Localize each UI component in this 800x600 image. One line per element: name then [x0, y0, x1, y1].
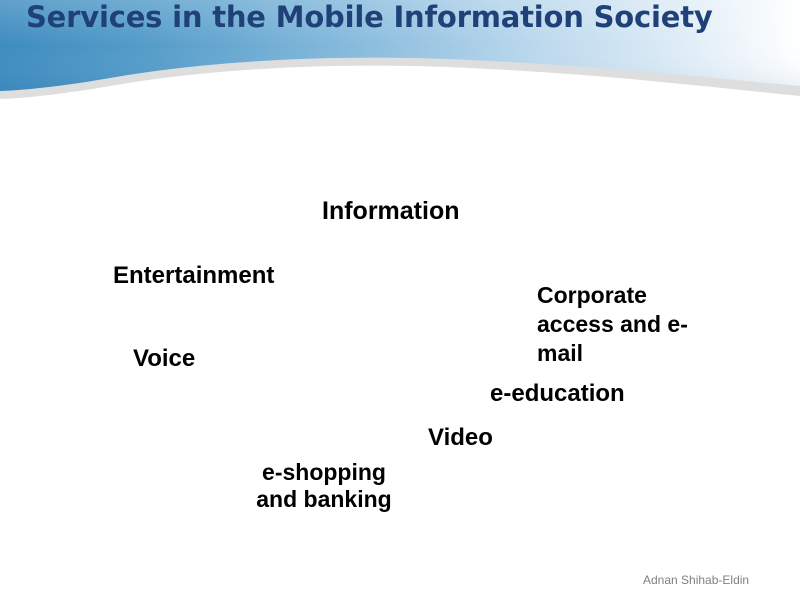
service-label-entertainment: Entertainment	[113, 261, 274, 290]
service-label-e-shopping-and-banking: e-shopping and banking	[239, 459, 409, 513]
service-label-e-education: e-education	[490, 379, 625, 409]
service-label-voice: Voice	[133, 344, 195, 373]
footer-author-credit: Adnan Shihab-Eldin	[643, 573, 749, 587]
service-label-corporate-access-and-email: Corporate access and e-mail	[537, 281, 723, 368]
service-label-information: Information	[322, 197, 460, 226]
page-title: Services in the Mobile Information Socie…	[26, 0, 726, 35]
service-label-video: Video	[428, 423, 493, 452]
presentation-slide: Services in the Mobile Information Socie…	[0, 0, 800, 600]
